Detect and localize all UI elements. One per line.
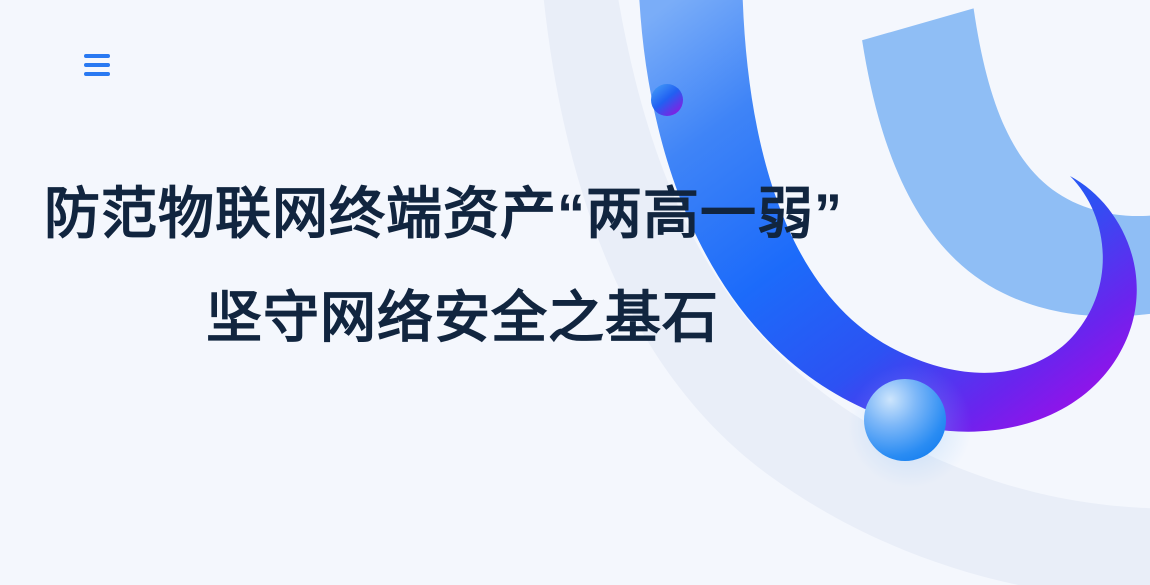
- large-blue-sphere-shape: [864, 379, 946, 461]
- light-blue-hook-arc-shape: [857, 0, 1150, 375]
- small-gradient-sphere-shape: [651, 84, 683, 116]
- title-line-2: 坚守网络安全之基石: [206, 290, 900, 346]
- hamburger-menu-button[interactable]: [84, 50, 116, 80]
- slide-canvas: 防范物联网终端资产“两高一弱” 坚守网络安全之基石: [0, 0, 1150, 585]
- slide-title-block: 防范物联网终端资产“两高一弱” 坚守网络安全之基石: [0, 186, 900, 346]
- hamburger-bar-top: [84, 54, 110, 58]
- hamburger-bar-middle: [84, 63, 110, 67]
- large-sphere-glow: [848, 364, 972, 488]
- title-line-1: 防范物联网终端资产“两高一弱”: [44, 186, 900, 242]
- hamburger-bar-bottom: [84, 72, 110, 76]
